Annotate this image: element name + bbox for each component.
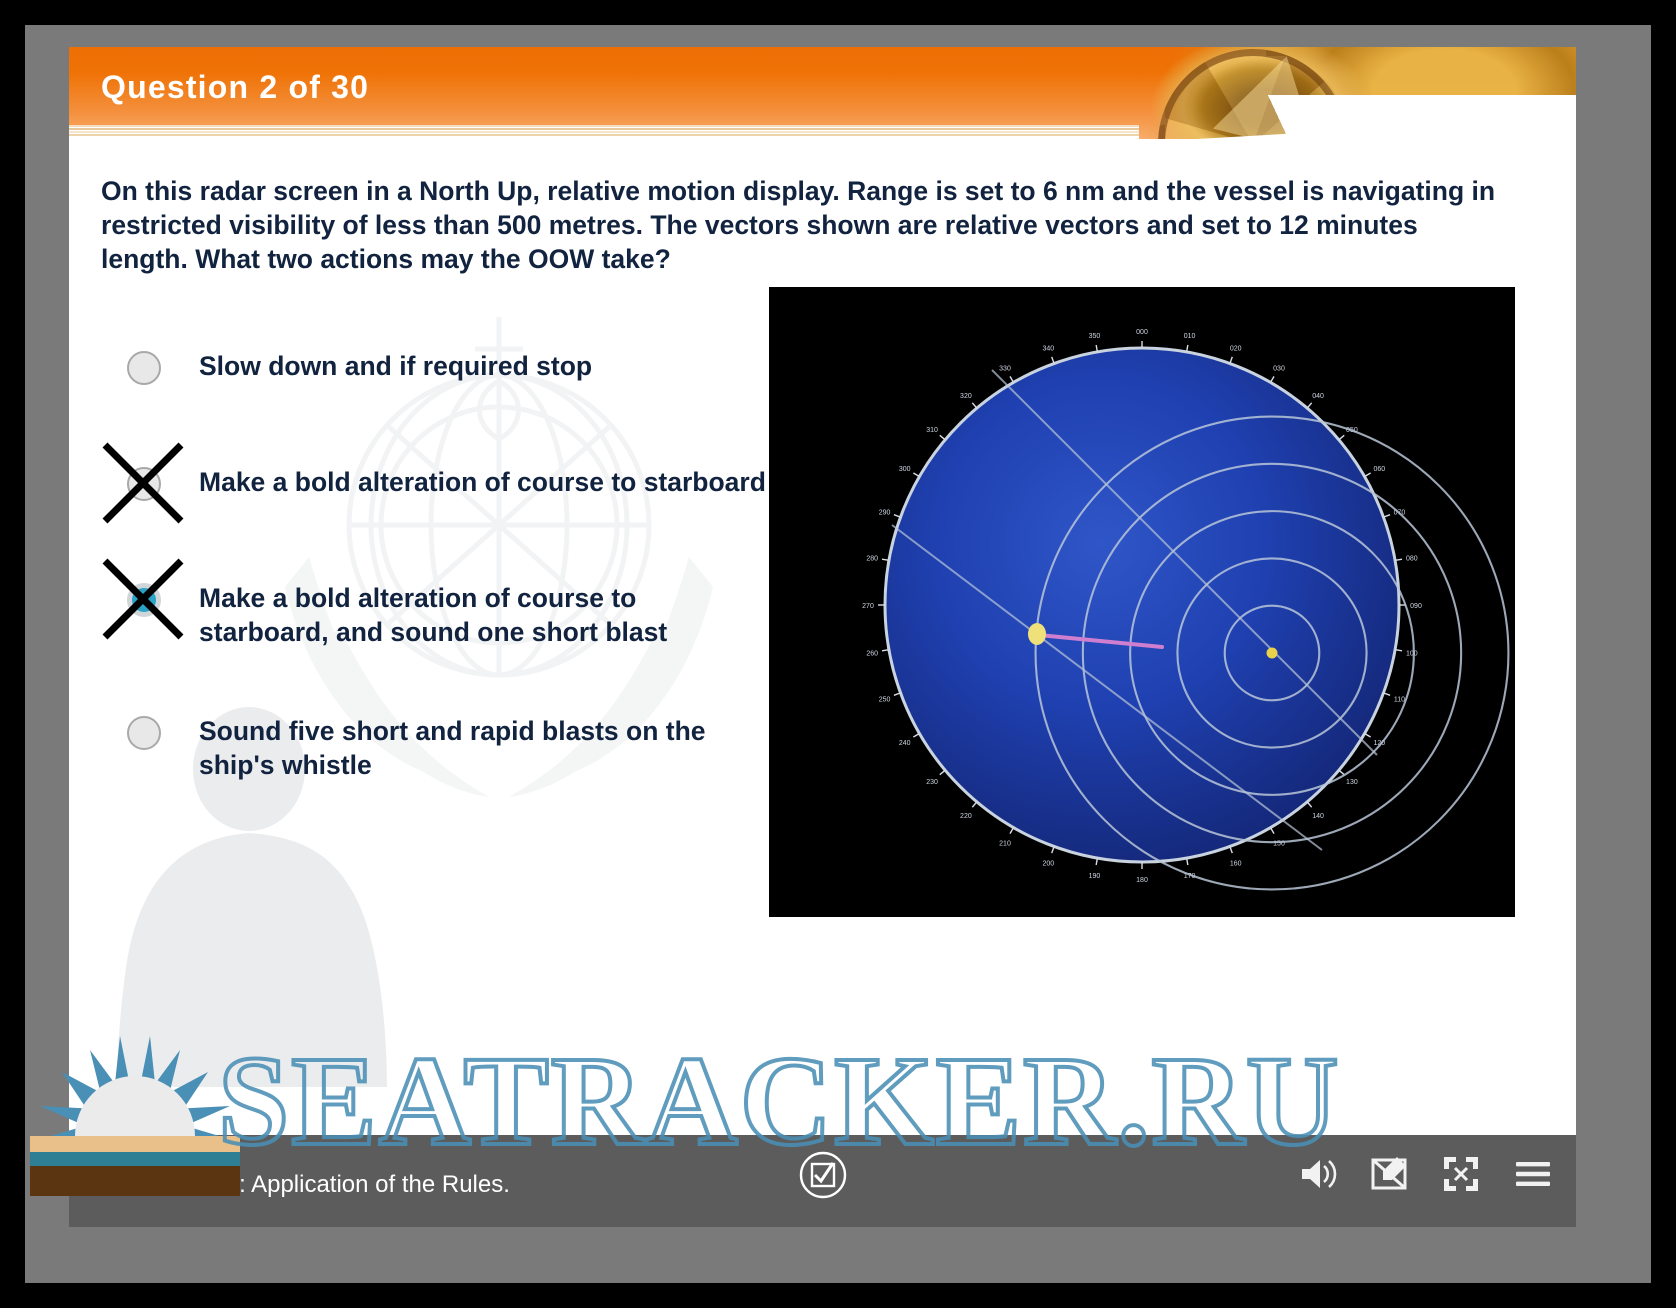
fullscreen-icon[interactable] (1440, 1153, 1482, 1195)
radar-scope: 0000100200300400500600700800901001101201… (769, 287, 1515, 917)
svg-text:160: 160 (1230, 860, 1242, 867)
svg-text:340: 340 (1042, 346, 1054, 353)
slide-header: Question 2 of 30 (69, 47, 1576, 139)
radar-display-panel: 0000100200300400500600700800901001101201… (769, 287, 1515, 917)
svg-text:020: 020 (1230, 346, 1242, 353)
svg-text:100: 100 (1406, 651, 1418, 658)
svg-text:110: 110 (1394, 697, 1405, 704)
notes-icon[interactable] (1368, 1153, 1410, 1195)
menu-icon[interactable] (1512, 1153, 1554, 1195)
lesson-title-label: 5. Assessment: Application of the Rules. (83, 1171, 510, 1199)
svg-text:210: 210 (999, 840, 1011, 847)
svg-text:230: 230 (926, 779, 938, 786)
question-text: On this radar screen in a North Up, rela… (101, 175, 1511, 277)
page-title: Question 2 of 30 (101, 69, 369, 106)
bottom-navigation-bar: 4/34 5. Assessment: Application of the R… (69, 1135, 1576, 1227)
application-frame: Question 2 of 30 (25, 25, 1651, 1283)
svg-text:080: 080 (1406, 555, 1418, 562)
option-label-2: Make a bold alteration of course to star… (199, 463, 766, 499)
svg-text:300: 300 (899, 466, 911, 473)
slide-canvas: Question 2 of 30 (69, 47, 1576, 1227)
svg-text:030: 030 (1273, 366, 1285, 373)
volume-icon[interactable] (1296, 1153, 1338, 1195)
svg-text:330: 330 (999, 366, 1011, 373)
option-label-3: Make a bold alteration of course to star… (199, 579, 767, 650)
svg-text:190: 190 (1089, 873, 1101, 880)
own-ship-marker (1267, 648, 1278, 659)
option-row-4[interactable]: Sound five short and rapid blasts on the… (127, 712, 767, 783)
svg-text:140: 140 (1312, 813, 1324, 820)
option-radio-4[interactable] (127, 716, 161, 750)
svg-text:130: 130 (1346, 779, 1358, 786)
svg-text:250: 250 (879, 697, 891, 704)
header-stripe-decoration (69, 125, 1139, 139)
slide-progress-label: 4/34 (83, 1145, 120, 1167)
option-row-2[interactable]: Make a bold alteration of course to star… (127, 463, 767, 517)
svg-text:200: 200 (1042, 860, 1054, 867)
option-label-4: Sound five short and rapid blasts on the… (199, 712, 767, 783)
svg-text:290: 290 (879, 509, 891, 516)
option-row-3[interactable]: Make a bold alteration of course to star… (127, 579, 767, 650)
svg-text:310: 310 (926, 427, 938, 434)
svg-text:220: 220 (960, 813, 972, 820)
svg-text:260: 260 (866, 651, 878, 658)
svg-text:280: 280 (866, 555, 878, 562)
option-radio-3[interactable] (127, 583, 161, 617)
target-echo (1028, 623, 1046, 645)
answer-options-list: Slow down and if required stop Make a bo… (127, 347, 767, 783)
svg-text:240: 240 (899, 740, 911, 747)
option-label-1: Slow down and if required stop (199, 347, 592, 383)
option-row-1[interactable]: Slow down and if required stop (127, 347, 767, 401)
option-radio-2[interactable] (127, 467, 161, 501)
svg-text:060: 060 (1373, 466, 1385, 473)
svg-text:000: 000 (1136, 329, 1148, 336)
bottom-bar-icon-group (1296, 1153, 1554, 1195)
svg-text:350: 350 (1089, 333, 1101, 340)
svg-text:040: 040 (1312, 393, 1324, 400)
svg-text:270: 270 (862, 603, 874, 610)
checkbox-submit-icon[interactable] (799, 1151, 847, 1199)
svg-text:180: 180 (1136, 877, 1148, 884)
option-radio-1[interactable] (127, 351, 161, 385)
svg-text:320: 320 (960, 393, 972, 400)
svg-text:010: 010 (1184, 333, 1196, 340)
svg-text:090: 090 (1410, 603, 1422, 610)
